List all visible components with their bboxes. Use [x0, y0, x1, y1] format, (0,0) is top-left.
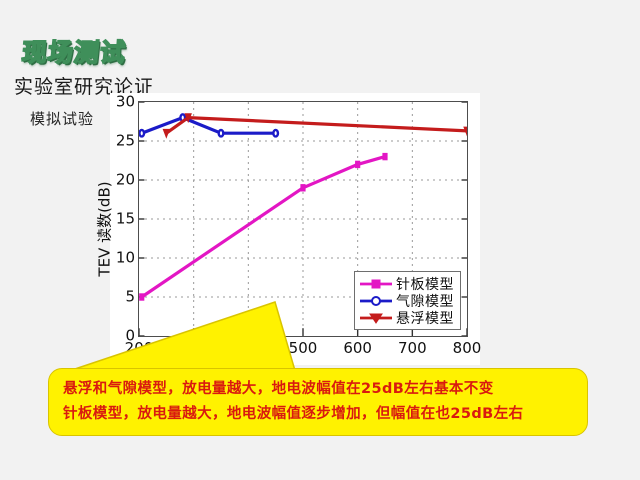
- chart-figure: TEV 读数(dB) 05101520253020030040050060070…: [110, 93, 480, 365]
- slide-title: 现场测试: [20, 33, 128, 69]
- callout-line-1: 悬浮和气隙模型，放电量越大，地电波幅值在25dB左右基本不变: [63, 377, 573, 402]
- callout-box: 悬浮和气隙模型，放电量越大，地电波幅值在25dB左右基本不变 针板模型，放电量越…: [48, 368, 588, 436]
- chart-legend: 针板模型气隙模型悬浮模型: [354, 271, 461, 330]
- y-axis-title: TEV 读数(dB): [94, 181, 115, 276]
- legend-item-2: 悬浮模型: [359, 309, 454, 326]
- x-tick-label: 700: [398, 339, 427, 357]
- y-tick-label: 10: [116, 249, 135, 267]
- callout-line-2: 针板模型，放电量越大，地电波幅值逐步增加，但幅值在也25dB左右: [63, 402, 573, 427]
- x-tick-label: 300: [179, 339, 208, 357]
- plot-area: 051015202530200300400500600700800 针板模型气隙…: [138, 101, 468, 337]
- x-tick-label: 400: [234, 339, 263, 357]
- y-tick-label: 20: [116, 171, 135, 189]
- x-tick-label: 200: [125, 339, 154, 357]
- legend-item-0: 针板模型: [359, 275, 454, 292]
- x-tick-label: 600: [343, 339, 372, 357]
- x-tick-label: 800: [453, 339, 482, 357]
- legend-marker-circle-icon: [359, 294, 393, 308]
- legend-item-1: 气隙模型: [359, 292, 454, 309]
- legend-marker-triangle-down-icon: [359, 311, 393, 325]
- series-0: [140, 153, 388, 300]
- y-tick-label: 30: [116, 93, 135, 111]
- legend-label: 悬浮模型: [396, 308, 454, 328]
- series-2: [163, 114, 467, 138]
- y-tick-label: 5: [125, 288, 135, 306]
- legend-marker-square-icon: [359, 277, 393, 291]
- y-tick-label: 25: [116, 132, 135, 150]
- x-tick-label: 500: [289, 339, 318, 357]
- y-tick-label: 15: [116, 210, 135, 228]
- slide-caption: 模拟试验: [30, 108, 94, 129]
